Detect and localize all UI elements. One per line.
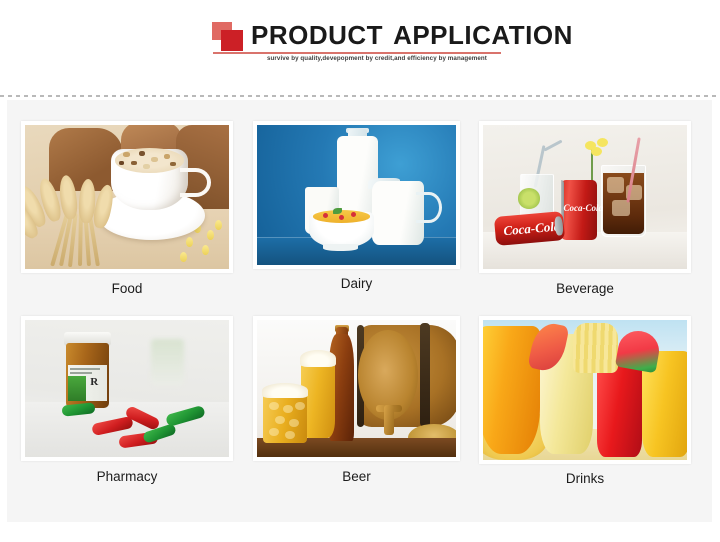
coca-cola-can-upright: Coca-Cola — [561, 180, 598, 240]
product-label-beer: Beer — [253, 469, 460, 484]
product-card-beverage[interactable]: Coca-Cola Coca-Cola Beverage — [479, 121, 691, 301]
product-card-pharmacy[interactable]: R Pharmacy — [21, 316, 233, 496]
product-label-beverage: Beverage — [479, 281, 691, 296]
two-red-squares-logo-icon — [212, 22, 246, 52]
product-image-frame-pharmacy[interactable]: R — [21, 316, 233, 461]
product-image-food — [25, 125, 229, 269]
product-image-beverage: Coca-Cola Coca-Cola — [483, 125, 687, 269]
header-divider — [0, 95, 720, 97]
content-panel: Food — [7, 100, 712, 522]
product-card-drinks[interactable]: Drinks — [479, 316, 691, 496]
wheat-bundle — [25, 177, 139, 266]
slide-header: PRODUCTAPPLICATION survive by quality,de… — [0, 0, 720, 95]
product-image-frame-dairy[interactable] — [253, 121, 460, 269]
product-label-food: Food — [21, 281, 233, 296]
page-title-secondary: APPLICATION — [393, 20, 573, 50]
product-image-dairy — [257, 125, 456, 265]
logo-square-front — [221, 30, 243, 51]
product-label-drinks: Drinks — [479, 471, 691, 486]
product-image-frame-beer[interactable] — [253, 316, 460, 461]
page-subtitle: survive by quality,devepopment by credit… — [252, 55, 502, 62]
product-card-beer[interactable]: Beer — [253, 316, 460, 496]
product-grid: Food — [7, 100, 712, 522]
product-image-frame-drinks[interactable] — [479, 316, 691, 464]
slide: PRODUCTAPPLICATION survive by quality,de… — [0, 0, 720, 542]
product-label-pharmacy: Pharmacy — [21, 469, 233, 484]
page-title: PRODUCTAPPLICATION — [251, 19, 573, 51]
product-image-frame-food[interactable] — [21, 121, 233, 273]
product-label-dairy: Dairy — [253, 276, 460, 291]
product-image-beer — [257, 320, 456, 457]
product-card-dairy[interactable]: Dairy — [253, 121, 460, 301]
page-title-primary: PRODUCT — [251, 20, 383, 50]
product-image-pharmacy: R — [25, 320, 229, 457]
title-underline-rule — [213, 52, 501, 54]
product-card-food[interactable]: Food — [21, 121, 233, 301]
product-image-frame-beverage[interactable]: Coca-Cola Coca-Cola — [479, 121, 691, 273]
product-image-drinks — [483, 320, 687, 460]
